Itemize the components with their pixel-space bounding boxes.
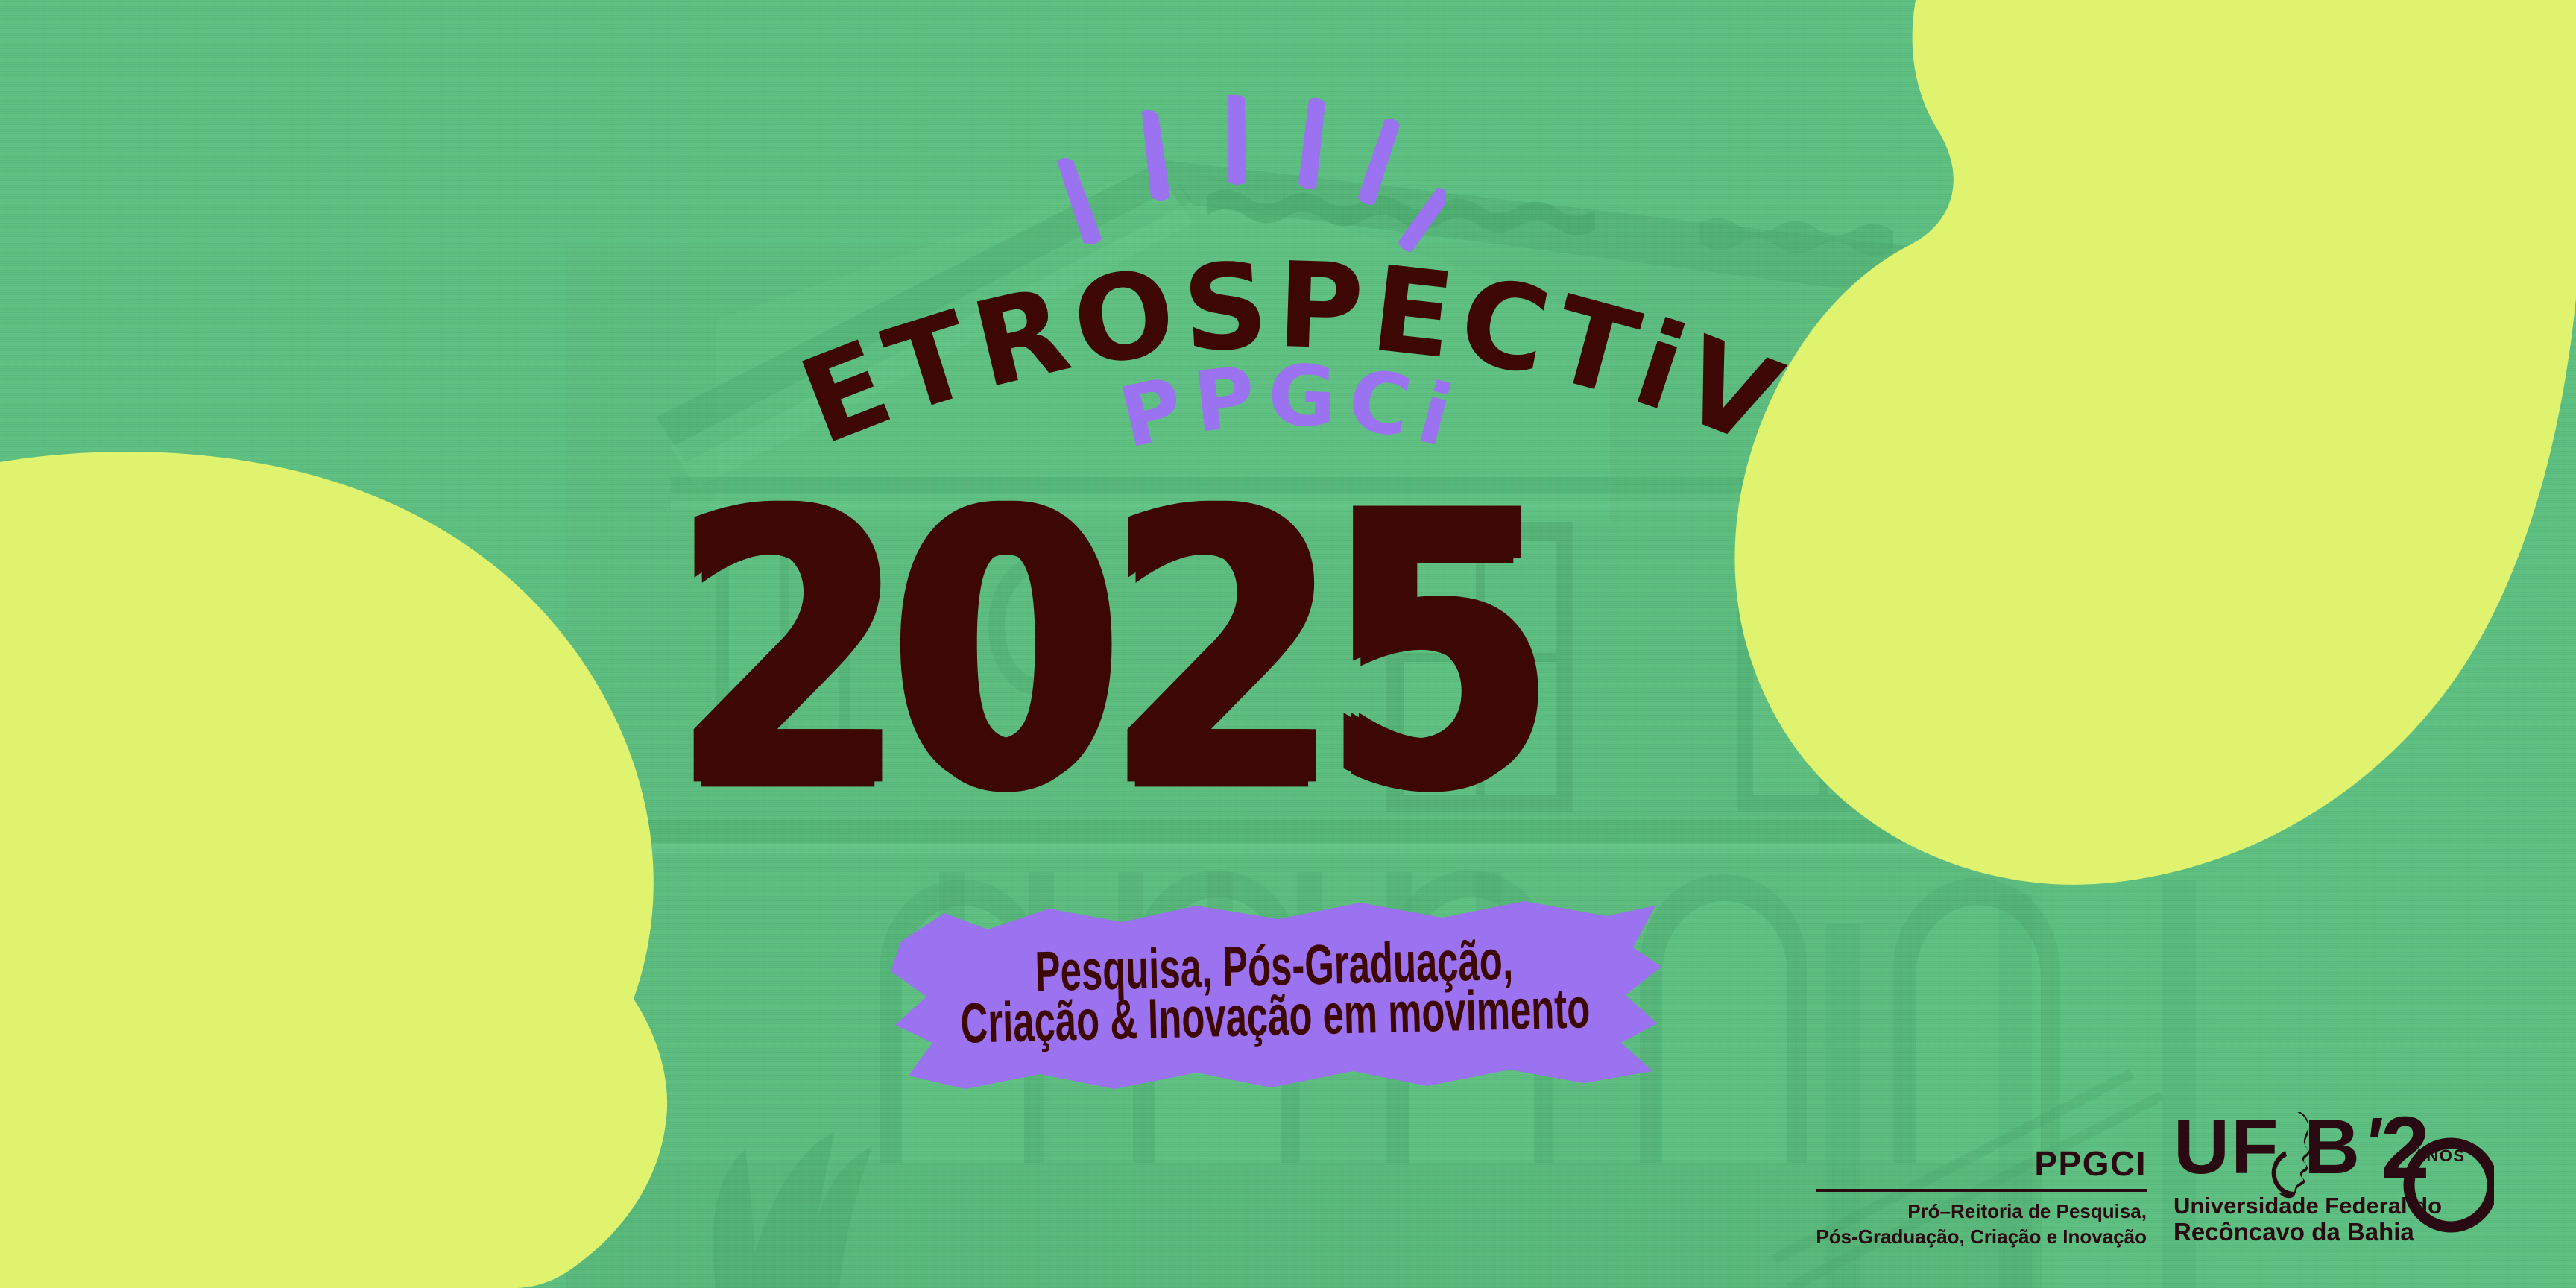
ufrb-anniversary-word: ANOS <box>2414 1146 2466 1165</box>
logo-lockup: PPGCI Pró–Reitoria de Pesquisa, Pós-Grad… <box>1816 1118 2494 1267</box>
ufrb-name-line-1: Universidade Federal do <box>2173 1193 2442 1219</box>
ppgci-description-line-1: Pró–Reitoria de Pesquisa, <box>1907 1199 2147 1224</box>
subtitle-banner: Pesquisa, Pós-Graduação, Criação & Inova… <box>876 883 1673 1099</box>
ppgci-description-line-2: Pós-Graduação, Criação e Inovação <box>1816 1224 2147 1249</box>
year-display: 2025 <box>0 462 2423 840</box>
banner-line-2: Criação & Inovação em movimento <box>960 980 1591 1053</box>
ray-4 <box>1298 98 1325 189</box>
ufrb-logo: UF B 2 ANOS Univer <box>2173 1118 2494 1267</box>
ppgci-divider <box>1816 1189 2147 1192</box>
ufrb-acronym-letters: UF <box>2173 1112 2280 1190</box>
ray-3 <box>1228 95 1246 185</box>
poster-canvas: RETROSPECTiVA PPGCi 2025 Pesquisa, Pós-G… <box>0 0 2576 1288</box>
ufrb-letter-b: B <box>2304 1112 2360 1190</box>
ray-5 <box>1358 119 1400 205</box>
ufrb-name-line-2: Recôncavo da Bahia <box>2173 1218 2414 1246</box>
ppgci-acronym: PPGCI <box>2034 1146 2147 1181</box>
ray-2 <box>1142 110 1170 201</box>
ppgci-logo: PPGCI Pró–Reitoria de Pesquisa, Pós-Grad… <box>1816 1118 2147 1250</box>
